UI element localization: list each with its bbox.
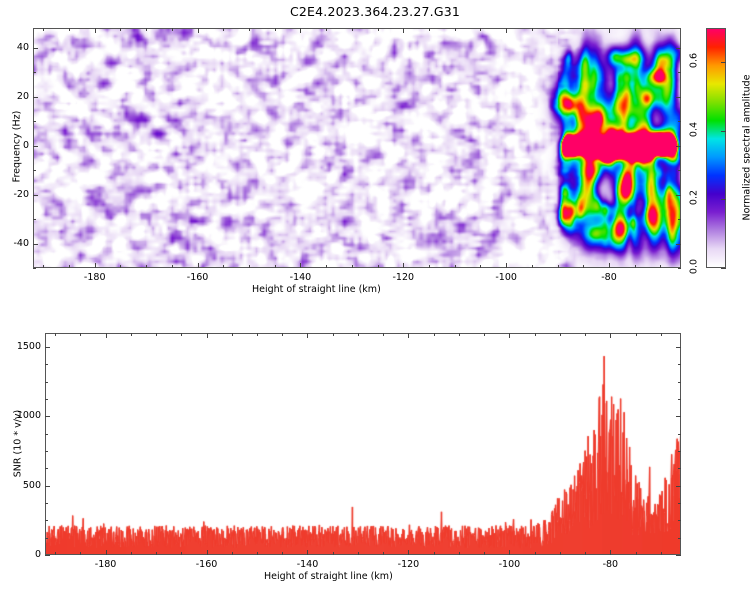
colorbar-gradient [707,29,725,267]
y-minor-tick [678,538,681,539]
y-minor-tick [45,538,48,539]
y-minor-tick [678,555,681,556]
y-minor-tick [678,468,681,469]
x-minor-tick [509,552,510,555]
x-minor-tick [661,552,662,555]
x-minor-tick [585,333,586,336]
spectrogram-panel [33,28,681,268]
x-minor-tick [232,552,233,555]
figure-root: C2E4.2023.364.23.27.G31 -180-160-140-120… [0,0,750,600]
y-minor-tick [678,195,681,196]
x-minor-tick [558,265,559,268]
y-minor-tick [678,364,681,365]
spectrogram-x-axis-label: Height of straight line (km) [252,284,381,295]
x-minor-tick [535,552,536,555]
x-minor-tick [358,552,359,555]
x-minor-tick [80,552,81,555]
x-minor-tick [69,265,70,268]
x-minor-tick [636,333,637,336]
x-minor-tick [480,28,481,31]
x-minor-tick [378,28,379,31]
x-minor-tick [352,265,353,268]
x-minor-tick [156,552,157,555]
x-minor-tick [106,333,107,336]
x-minor-tick [560,333,561,336]
x-minor-tick [480,265,481,268]
x-minor-tick [434,333,435,336]
x-minor-tick [484,552,485,555]
x-minor-tick [120,28,121,31]
x-minor-tick [223,265,224,268]
x-minor-tick [207,333,208,336]
x-minor-tick [558,28,559,31]
x-minor-tick [131,333,132,336]
x-minor-tick [635,265,636,268]
x-minor-tick [506,265,507,268]
y-minor-tick [678,347,681,348]
y-tick-label: 1500 [3,341,41,352]
y-minor-tick [33,146,36,147]
x-tick-label: -100 [487,559,531,570]
snr-y-axis-label: SNR (10 * v/v) [13,389,24,499]
x-minor-tick [609,28,610,31]
x-minor-tick [181,333,182,336]
y-minor-tick [33,170,36,171]
y-minor-tick [678,416,681,417]
x-minor-tick [223,28,224,31]
y-minor-tick [678,268,681,269]
x-minor-tick [609,265,610,268]
x-tick-label: -160 [176,272,220,283]
x-minor-tick [610,552,611,555]
x-tick-label: -160 [185,559,229,570]
y-minor-tick [33,48,36,49]
x-minor-tick [300,28,301,31]
colorbar-tick-label: 0.0 [689,250,700,284]
x-minor-tick [660,28,661,31]
figure-title: C2E4.2023.364.23.27.G31 [0,4,750,19]
x-minor-tick [661,333,662,336]
x-minor-tick [509,333,510,336]
x-minor-tick [198,28,199,31]
y-minor-tick [33,244,36,245]
x-minor-tick [95,28,96,31]
spectrogram-y-axis-label: Frequency (Hz) [12,97,23,197]
x-minor-tick [146,265,147,268]
y-minor-tick [45,451,48,452]
x-minor-tick [455,265,456,268]
x-minor-tick [532,28,533,31]
y-minor-tick [33,97,36,98]
y-minor-tick [45,416,48,417]
y-minor-tick [45,399,48,400]
x-minor-tick [535,333,536,336]
colorbar-tick [721,131,726,132]
x-minor-tick [352,28,353,31]
y-tick-label: -40 [0,238,29,249]
spectrogram-image [34,29,681,268]
x-minor-tick [55,552,56,555]
y-minor-tick [678,399,681,400]
x-minor-tick [333,552,334,555]
x-minor-tick [249,265,250,268]
colorbar-label: Normalized spectral amplitude [742,68,750,228]
x-minor-tick [585,552,586,555]
x-minor-tick [257,552,258,555]
x-minor-tick [429,265,430,268]
y-tick-label: 40 [0,42,29,53]
x-minor-tick [307,552,308,555]
x-tick-label: -100 [484,272,528,283]
y-minor-tick [678,503,681,504]
x-minor-tick [408,552,409,555]
x-minor-tick [131,552,132,555]
x-minor-tick [326,265,327,268]
x-minor-tick [378,265,379,268]
y-minor-tick [45,347,48,348]
colorbar-tick [721,199,726,200]
x-minor-tick [408,333,409,336]
x-minor-tick [275,265,276,268]
colorbar-tick-label: 0.2 [689,181,700,215]
x-tick-label: -180 [73,272,117,283]
snr-trace [46,334,681,555]
x-tick-label: -80 [588,559,632,570]
x-minor-tick [69,28,70,31]
y-minor-tick [678,244,681,245]
y-minor-tick [678,170,681,171]
snr-panel [45,333,681,555]
x-minor-tick [459,552,460,555]
x-minor-tick [300,265,301,268]
x-minor-tick [383,333,384,336]
y-minor-tick [678,520,681,521]
x-minor-tick [198,265,199,268]
x-minor-tick [95,265,96,268]
x-minor-tick [484,333,485,336]
y-minor-tick [45,503,48,504]
x-minor-tick [181,552,182,555]
x-minor-tick [583,28,584,31]
x-minor-tick [172,265,173,268]
x-minor-tick [257,333,258,336]
y-minor-tick [678,72,681,73]
x-minor-tick [106,552,107,555]
y-minor-tick [678,434,681,435]
x-minor-tick [43,265,44,268]
y-minor-tick [678,486,681,487]
x-minor-tick [434,552,435,555]
snr-x-axis-label: Height of straight line (km) [264,571,393,582]
x-minor-tick [146,28,147,31]
x-tick-label: -140 [285,559,329,570]
y-minor-tick [678,97,681,98]
y-minor-tick [678,451,681,452]
x-minor-tick [120,265,121,268]
x-minor-tick [333,333,334,336]
y-minor-tick [33,72,36,73]
x-minor-tick [282,552,283,555]
x-tick-label: -140 [278,272,322,283]
x-minor-tick [403,28,404,31]
y-minor-tick [678,48,681,49]
x-minor-tick [383,552,384,555]
x-minor-tick [635,28,636,31]
x-minor-tick [232,333,233,336]
y-tick-label: 0 [3,549,41,560]
x-minor-tick [610,333,611,336]
y-minor-tick [678,382,681,383]
y-minor-tick [678,219,681,220]
x-minor-tick [560,552,561,555]
y-minor-tick [678,146,681,147]
x-minor-tick [532,265,533,268]
x-minor-tick [275,28,276,31]
x-minor-tick [249,28,250,31]
x-minor-tick [636,552,637,555]
y-minor-tick [33,195,36,196]
x-minor-tick [660,265,661,268]
x-minor-tick [429,28,430,31]
x-minor-tick [506,28,507,31]
x-minor-tick [207,552,208,555]
colorbar-tick [721,62,726,63]
x-minor-tick [55,333,56,336]
y-minor-tick [45,555,48,556]
x-minor-tick [80,333,81,336]
y-minor-tick [33,268,36,269]
x-tick-label: -120 [381,272,425,283]
x-minor-tick [326,28,327,31]
y-minor-tick [45,364,48,365]
y-minor-tick [33,219,36,220]
x-minor-tick [172,28,173,31]
x-minor-tick [455,28,456,31]
y-minor-tick [45,468,48,469]
y-minor-tick [33,121,36,122]
y-minor-tick [45,486,48,487]
y-minor-tick [45,434,48,435]
y-minor-tick [45,382,48,383]
x-tick-label: -80 [587,272,631,283]
x-minor-tick [583,265,584,268]
x-minor-tick [403,265,404,268]
colorbar [706,28,726,268]
colorbar-tick-label: 0.6 [689,44,700,78]
y-minor-tick [45,520,48,521]
x-tick-label: -180 [84,559,128,570]
x-minor-tick [156,333,157,336]
x-tick-label: -120 [386,559,430,570]
y-minor-tick [678,121,681,122]
x-minor-tick [282,333,283,336]
colorbar-tick [721,268,726,269]
x-minor-tick [307,333,308,336]
colorbar-tick-label: 0.4 [689,112,700,146]
x-minor-tick [43,28,44,31]
x-minor-tick [358,333,359,336]
x-minor-tick [459,333,460,336]
